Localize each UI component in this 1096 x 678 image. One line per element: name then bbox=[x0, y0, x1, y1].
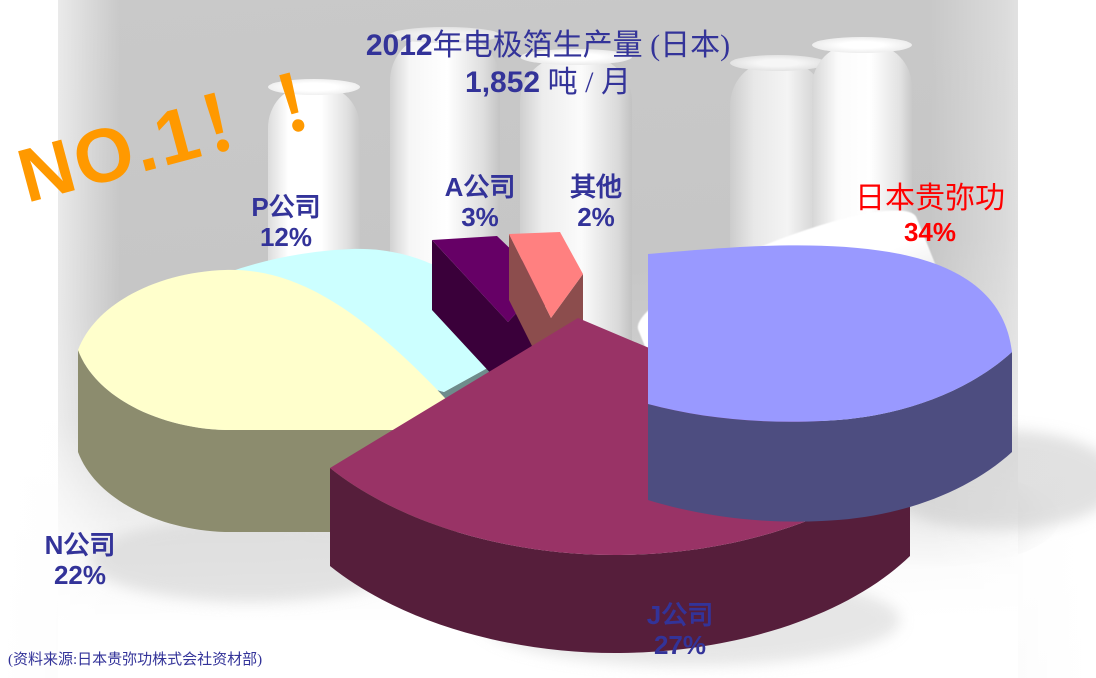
label-p-pct: 12% bbox=[196, 222, 376, 252]
label-n-pct: 22% bbox=[0, 560, 170, 590]
label-n-name: N公司 bbox=[0, 530, 170, 560]
label-other: 其他 2% bbox=[516, 172, 676, 232]
label-p-name-text: P公司 bbox=[251, 192, 320, 222]
label-n: N公司 22% bbox=[0, 530, 170, 590]
label-j: J公司 27% bbox=[590, 600, 770, 660]
label-ncc-name: 日本贵弥功 bbox=[780, 182, 1080, 217]
label-other-pct: 2% bbox=[516, 202, 676, 232]
label-p: P公司 12% bbox=[196, 192, 376, 252]
label-j-pct: 27% bbox=[590, 630, 770, 660]
pie-slice-ncc[interactable] bbox=[648, 245, 1012, 521]
source-note: (资料来源:日本贵弥功株式会社资材部) bbox=[8, 648, 262, 669]
label-ncc-pct: 34% bbox=[780, 217, 1080, 247]
label-other-name: 其他 bbox=[516, 172, 676, 202]
label-j-name: J公司 bbox=[590, 600, 770, 630]
slide-canvas: 2012年电极箔生产量 (日本) 1,852 吨 / 月 NO.1！！ P公司 … bbox=[0, 0, 1096, 678]
label-p-name: P公司 bbox=[196, 192, 376, 222]
label-ncc: 日本贵弥功 34% bbox=[780, 182, 1080, 247]
